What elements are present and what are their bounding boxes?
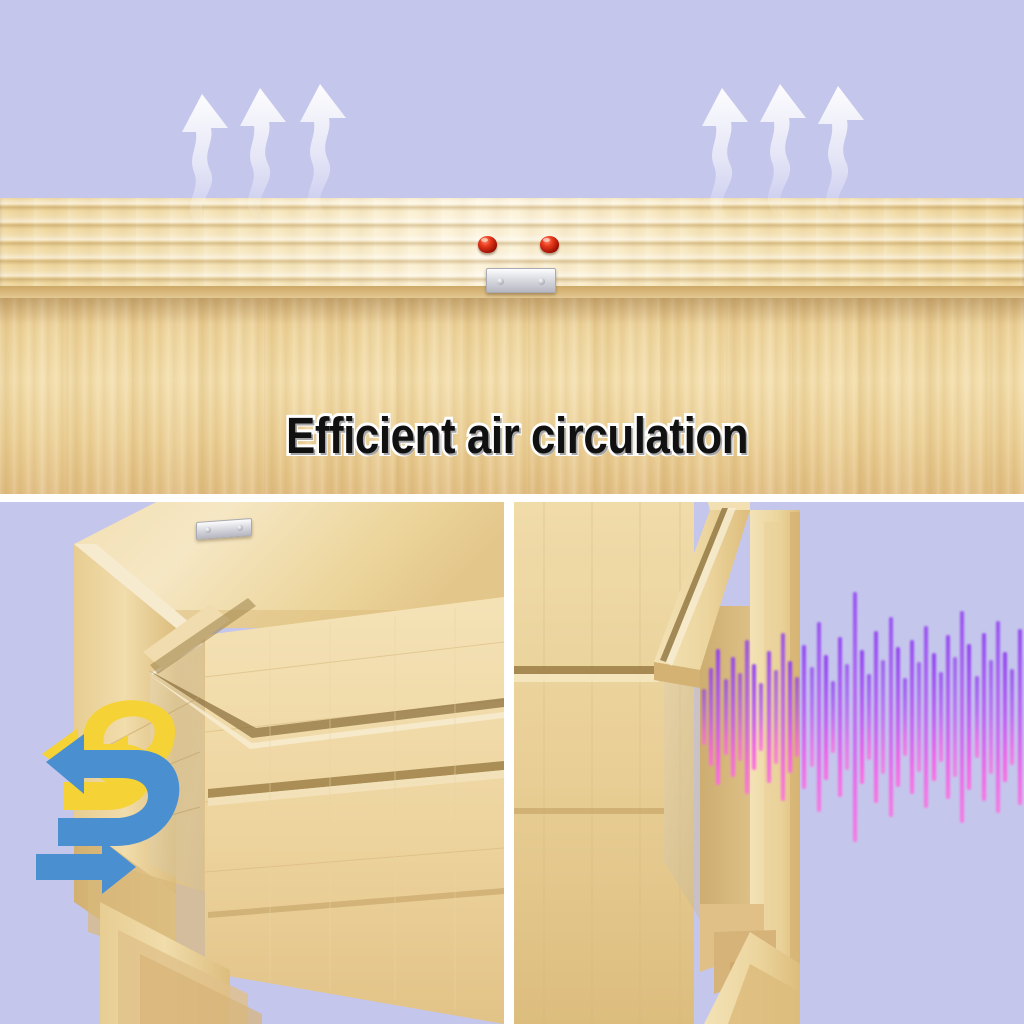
sound-wave-bar <box>989 660 993 775</box>
screw-icon <box>497 278 504 285</box>
wavy-up-arrow-icon <box>294 82 358 214</box>
sound-wave-bar <box>759 683 763 751</box>
sound-wave-bar <box>924 626 928 808</box>
sound-wave-bar <box>1018 629 1022 805</box>
sound-wave-bar <box>802 645 806 788</box>
sound-wave-bar <box>867 674 871 760</box>
sound-wave-bar <box>853 592 857 842</box>
sound-wave-bar <box>975 676 979 758</box>
heat-retention-arrows <box>24 632 204 932</box>
sound-wave-bar <box>845 664 849 771</box>
sound-wave-bar <box>795 677 799 757</box>
panel-efficient-air-circulation: Efficient air circulation <box>0 0 1024 494</box>
sound-wave-bar <box>881 660 885 775</box>
sound-wave-bar <box>716 649 720 784</box>
screw-icon <box>538 278 545 285</box>
sound-wave-bar <box>967 644 971 789</box>
sound-wave-bar <box>709 668 713 766</box>
sound-wave-bar <box>874 631 878 803</box>
metal-bracket-plate <box>486 268 556 293</box>
panel-exceptional-heat-retention: Exceptional heat retention <box>0 502 504 1024</box>
sound-wave-bar <box>788 661 792 774</box>
sound-wave-bar <box>982 633 986 801</box>
sound-wave-bar <box>724 679 728 755</box>
sound-wave-bar <box>831 681 835 753</box>
sound-wave-bar <box>932 653 936 780</box>
wavy-up-arrow-icon <box>812 84 876 216</box>
screw-icon <box>237 525 243 531</box>
led-indicator-left <box>478 236 497 253</box>
sound-wave-bar <box>745 640 749 794</box>
sound-wave-bar <box>889 617 893 818</box>
sound-wave-bar <box>838 637 842 797</box>
sound-wave-bar <box>817 622 821 813</box>
sound-wave-bar <box>896 647 900 786</box>
sound-wave-bar <box>752 664 756 771</box>
wavy-up-arrow-icon <box>176 92 240 224</box>
led-indicator-right <box>540 236 559 253</box>
sound-wave-bar <box>903 678 907 756</box>
sound-wave-bar <box>1010 669 1014 765</box>
sauna-front-face-shadow <box>0 298 1024 324</box>
sound-wave-bar <box>738 673 742 761</box>
sound-wave-bar <box>960 611 964 822</box>
sound-wave-bar <box>1003 652 1007 781</box>
sound-wave-bar <box>810 667 814 767</box>
sound-wave-bar <box>781 633 785 801</box>
sound-wave-bar <box>910 640 914 794</box>
sound-wave-bar <box>731 657 735 778</box>
sound-wave-bar <box>860 650 864 783</box>
infographic-root: Efficient air circulation <box>0 0 1024 1024</box>
sound-wave-bar <box>946 635 950 799</box>
sound-wave-bar <box>702 689 706 744</box>
screw-icon <box>205 527 211 533</box>
panel-excellent-acoustic-insulation: Excellent acoustic insulation <box>514 502 1024 1024</box>
sound-wave-bar <box>824 655 828 780</box>
wavy-up-arrow-icon <box>754 82 818 214</box>
sound-wave-bar <box>774 670 778 764</box>
wavy-up-arrow-icon <box>696 86 760 218</box>
sound-wave-bar <box>767 651 771 782</box>
panel-divider-vertical <box>504 494 514 1024</box>
sound-wave-bar <box>939 672 943 762</box>
sound-wave-bar <box>996 621 1000 814</box>
caption-efficient-air-circulation: Efficient air circulation <box>286 406 748 465</box>
sound-wave-bar <box>953 657 957 778</box>
wavy-up-arrow-icon <box>234 86 298 218</box>
heat-in-arrow-shape <box>36 734 179 894</box>
sound-wave-bar <box>917 662 921 773</box>
sound-wave-equalizer <box>702 592 1024 842</box>
